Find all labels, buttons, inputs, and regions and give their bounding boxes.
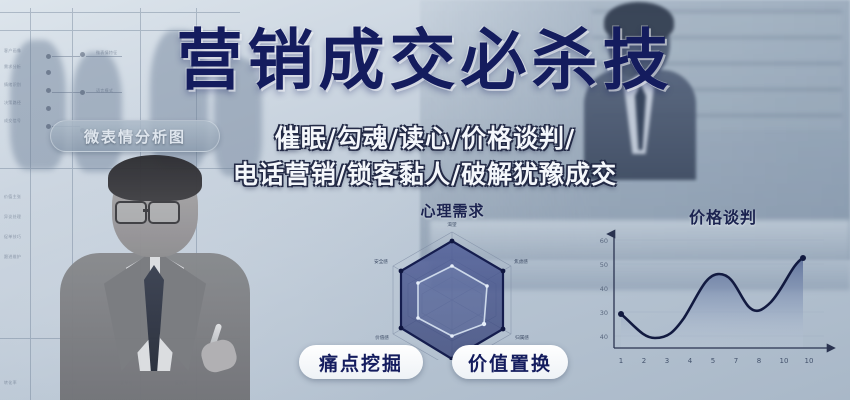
- radar-axis-label-4: 价值感: [375, 334, 389, 341]
- x-tick-7: 10: [780, 357, 789, 365]
- line-chart-svg: 60 50 40 30 40 1 2 3 4 5 7 8 10 10: [588, 222, 838, 372]
- subtitle-line-2: 电话营销/锁客黏人/破解犹豫成交: [0, 155, 850, 191]
- radar-chart-svg: 渴望 焦虑感 归属感 信任度 价值感 安全感: [345, 214, 560, 360]
- radar-axis-label-5: 安全感: [374, 258, 388, 265]
- x-tick-4: 5: [711, 357, 715, 365]
- y-tick-2: 40: [600, 285, 608, 293]
- pain-point-pill[interactable]: 痛点挖掘: [299, 345, 423, 379]
- x-tick-8: 10: [805, 357, 814, 365]
- y-tick-3: 30: [600, 309, 608, 317]
- foreground-presenter: [60, 155, 250, 400]
- glasses-icon: [115, 201, 147, 224]
- marketing-banner: 客户画像 需求分析 情绪识别 决策路径 成交信号 价值主张 异议处理 促单技巧 …: [0, 0, 850, 400]
- value-exchange-pill[interactable]: 价值置换: [452, 345, 568, 379]
- page-title: 营销成交必杀技: [0, 28, 850, 94]
- x-tick-2: 3: [665, 357, 669, 365]
- x-tick-5: 7: [734, 357, 738, 365]
- radar-axis-label-0: 渴望: [447, 221, 457, 228]
- y-tick-4: 40: [600, 333, 608, 341]
- x-tick-6: 8: [757, 357, 761, 365]
- radar-axis-label-2: 归属感: [515, 334, 529, 341]
- x-tick-1: 2: [642, 357, 646, 365]
- y-tick-1: 50: [600, 261, 608, 269]
- radar-chart: 心理需求: [345, 200, 560, 360]
- micro-expression-badge: 微表情分析图: [50, 120, 220, 152]
- line-chart-x-ticks: 1 2 3 4 5 7 8 10 10: [619, 357, 814, 365]
- line-chart-start-point: [618, 311, 624, 317]
- radar-axis-label-1: 焦虑感: [514, 258, 528, 265]
- x-tick-3: 4: [688, 357, 693, 365]
- line-chart-area: [621, 258, 803, 348]
- line-chart-y-ticks: 60 50 40 30 40: [600, 237, 608, 341]
- line-chart: 价格谈判: [588, 200, 838, 375]
- line-chart-end-point: [800, 255, 806, 261]
- y-tick-0: 60: [600, 237, 608, 245]
- x-tick-0: 1: [619, 357, 623, 365]
